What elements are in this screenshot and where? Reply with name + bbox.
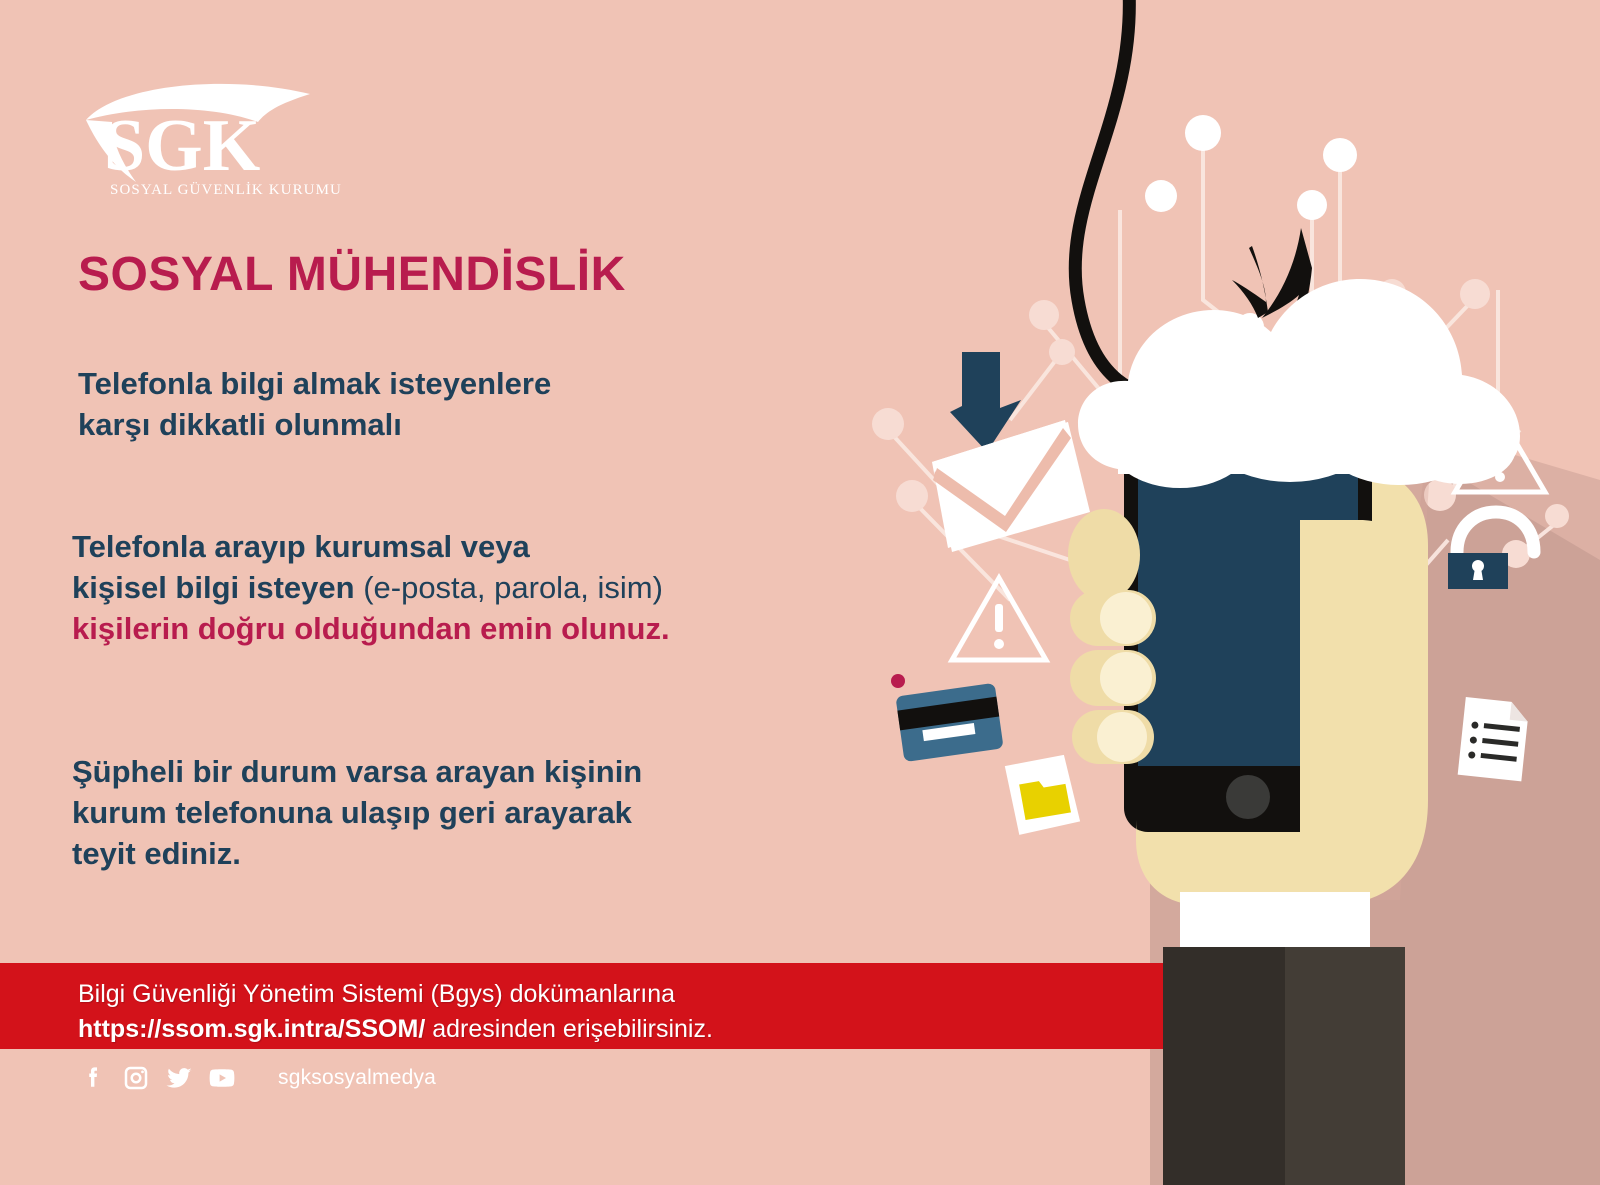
fishing-hook-icon bbox=[1075, 0, 1180, 398]
banner-line2: https://ssom.sgk.intra/SSOM/ adresinden … bbox=[78, 1012, 1163, 1047]
document-list-icon bbox=[1458, 697, 1530, 781]
decor-dot bbox=[891, 674, 905, 688]
circuit-nodes bbox=[888, 140, 1560, 700]
block2-line2-light: (e-posta, parola, isim) bbox=[355, 570, 663, 605]
hand-shadow bbox=[1180, 470, 1430, 900]
fingers-icon bbox=[1068, 509, 1156, 764]
banner-line1: Bilgi Güvenliği Yönetim Sistemi (Bgys) d… bbox=[78, 977, 1163, 1012]
social-handle: sgksosyalmedya bbox=[278, 1066, 436, 1090]
block2-line1: Telefonla arayıp kurumsal veya bbox=[72, 527, 670, 568]
thumb-icon bbox=[1136, 520, 1424, 898]
block2-line2-bold: kişisel bilgi isteyen bbox=[72, 570, 355, 605]
download-arrow-icon bbox=[950, 352, 1021, 452]
hook-barb-icon bbox=[1232, 228, 1312, 380]
circuit-node-dots bbox=[872, 115, 1569, 611]
warning-triangle-icon-left bbox=[952, 578, 1046, 660]
logo-subtitle: SOSYAL GÜVENLİK KURUMU bbox=[110, 181, 342, 198]
sgk-logo: SGK SOSYAL GÜVENLİK KURUMU bbox=[78, 78, 348, 213]
hand-icon bbox=[1136, 468, 1428, 905]
suit-sleeve bbox=[1163, 892, 1405, 1185]
poster-root: SGK SOSYAL GÜVENLİK KURUMU SOSYAL MÜHEND… bbox=[0, 0, 1600, 1185]
block3-line2: kurum telefonuna ulaşıp geri arayarak bbox=[72, 793, 642, 834]
paragraph-block-1: Telefonla bilgi almak isteyenlere karşı … bbox=[78, 364, 551, 446]
block2-line3: kişilerin doğru olduğundan emin olunuz. bbox=[72, 609, 670, 650]
twitter-icon[interactable] bbox=[164, 1063, 194, 1093]
block2-line2: kişisel bilgi isteyen (e-posta, parola, … bbox=[72, 568, 670, 609]
instagram-icon[interactable] bbox=[121, 1063, 151, 1093]
smartphone-icon bbox=[1124, 440, 1372, 832]
page-title: SOSYAL MÜHENDİSLİK bbox=[78, 247, 626, 302]
unlocked-padlock-icon bbox=[1448, 512, 1534, 589]
social-row: sgksosyalmedya bbox=[78, 1063, 436, 1093]
banner-url[interactable]: https://ssom.sgk.intra/SSOM/ bbox=[78, 1015, 425, 1043]
credit-card-icon bbox=[895, 683, 1003, 762]
cloud-icon bbox=[1078, 279, 1520, 488]
envelope-body bbox=[933, 422, 1090, 552]
shadow-wedge bbox=[1150, 430, 1600, 1185]
folder-document-icon bbox=[1004, 754, 1081, 836]
block1-line1: Telefonla bilgi almak isteyenlere bbox=[78, 364, 551, 405]
paragraph-block-3: Şüpheli bir durum varsa arayan kişinin k… bbox=[72, 752, 642, 875]
block3-line1: Şüpheli bir durum varsa arayan kişinin bbox=[72, 752, 642, 793]
envelope-icon bbox=[930, 418, 1092, 552]
warning-triangle-icon-right bbox=[1455, 415, 1545, 492]
banner-line2-tail: adresinden erişebilirsiniz. bbox=[425, 1015, 713, 1043]
block3-line3: teyit ediniz. bbox=[72, 834, 642, 875]
logo-acronym: SGK bbox=[104, 105, 260, 187]
youtube-icon[interactable] bbox=[207, 1063, 237, 1093]
info-banner: Bilgi Güvenliği Yönetim Sistemi (Bgys) d… bbox=[0, 963, 1163, 1049]
facebook-icon[interactable] bbox=[78, 1063, 108, 1093]
paragraph-block-2: Telefonla arayıp kurumsal veya kişisel b… bbox=[72, 527, 670, 650]
block1-line2: karşı dikkatli olunmalı bbox=[78, 405, 551, 446]
